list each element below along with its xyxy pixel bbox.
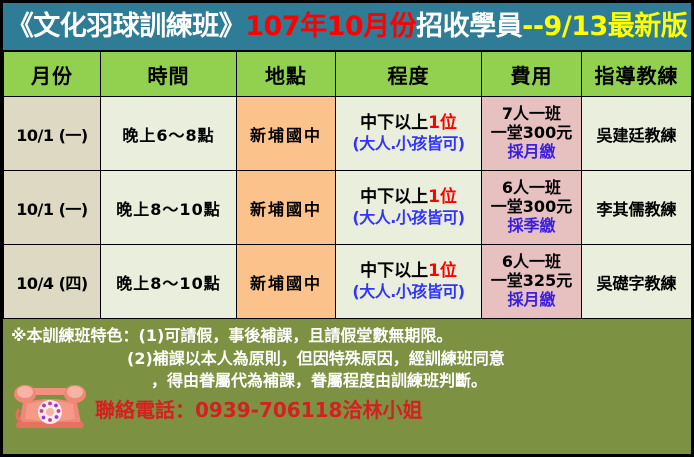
cell-place: 新埔國中	[237, 171, 336, 245]
level-note: (大人.小孩皆可)	[336, 208, 481, 228]
column-header-month: 月份	[4, 52, 101, 97]
level-slots: 1位	[428, 187, 457, 207]
cell-fee: 6人一班 一堂325元 採月繳	[482, 245, 582, 319]
level-note: (大人.小孩皆可)	[336, 282, 481, 302]
poster-root: 《文化羽球訓練班》107年10月份招收學員--9/13最新版 月份 時間 地點 …	[0, 0, 694, 457]
cell-fee: 7人一班 一堂300元 採月繳	[482, 97, 582, 171]
cell-time: 晚上6～8點	[101, 97, 237, 171]
level-slots: 1位	[428, 113, 457, 133]
table-row: 10/1 (一) 晚上8～10點 新埔國中 中下以上1位 (大人.小孩皆可) 6…	[4, 171, 692, 245]
cell-level: 中下以上1位 (大人.小孩皆可)	[336, 171, 482, 245]
table-header-row: 月份 時間 地點 程度 費用 指導教練	[4, 52, 692, 97]
title-banner: 《文化羽球訓練班》107年10月份招收學員--9/13最新版	[3, 3, 691, 51]
column-header-level: 程度	[336, 52, 482, 97]
level-main: 中下以上1位	[336, 187, 481, 208]
note-line-2: (2)補課以本人為原則，但因特殊原因，經訓練班同意	[11, 348, 683, 371]
schedule-table: 月份 時間 地點 程度 費用 指導教練 10/1 (一) 晚上6～8點 新埔國中…	[3, 51, 692, 319]
contact-row: 聯絡電話：0939-706118洽林小姐	[11, 379, 422, 431]
banner-title-part-recruit: 招收學員	[416, 11, 522, 42]
cell-time: 晚上8～10點	[101, 171, 237, 245]
fee-price: 一堂300元	[482, 198, 581, 217]
cell-coach: 吳建廷教練	[582, 97, 692, 171]
banner-title-part-version: --9/13最新版	[522, 11, 687, 42]
cell-time: 晚上8～10點	[101, 245, 237, 319]
table-row: 10/4 (四) 晚上8～10點 新埔國中 中下以上1位 (大人.小孩皆可) 6…	[4, 245, 692, 319]
banner-title: 《文化羽球訓練班》107年10月份招收學員--9/13最新版	[7, 13, 688, 40]
column-header-place: 地點	[237, 52, 336, 97]
level-main-text: 中下以上	[360, 113, 428, 133]
level-slots: 1位	[428, 261, 457, 281]
contact-phone-text: 聯絡電話：0939-706118洽林小姐	[89, 394, 422, 431]
fee-price: 一堂300元	[482, 124, 581, 143]
fee-class-size: 7人一班	[482, 105, 581, 124]
fee-payment-terms: 採月繳	[482, 143, 581, 162]
level-main-text: 中下以上	[360, 261, 428, 281]
level-main-text: 中下以上	[360, 187, 428, 207]
level-main: 中下以上1位	[336, 261, 481, 282]
banner-title-part-name: 《文化羽球訓練班》	[7, 11, 246, 42]
level-note: (大人.小孩皆可)	[336, 134, 481, 154]
cell-coach: 李其儒教練	[582, 171, 692, 245]
fee-class-size: 6人一班	[482, 179, 581, 198]
cell-month: 10/1 (一)	[4, 97, 101, 171]
fee-payment-terms: 採季繳	[482, 217, 581, 236]
cell-month: 10/1 (一)	[4, 171, 101, 245]
banner-title-part-period: 107年10月份	[245, 11, 416, 42]
cell-level: 中下以上1位 (大人.小孩皆可)	[336, 245, 482, 319]
note-line-1: ※本訓練班特色：(1)可請假，事後補課，且請假堂數無期限。	[11, 325, 683, 348]
cell-month: 10/4 (四)	[4, 245, 101, 319]
column-header-coach: 指導教練	[582, 52, 692, 97]
cell-place: 新埔國中	[237, 97, 336, 171]
cell-level: 中下以上1位 (大人.小孩皆可)	[336, 97, 482, 171]
column-header-fee: 費用	[482, 52, 582, 97]
footer-notes: ※本訓練班特色：(1)可請假，事後補課，且請假堂數無期限。 (2)補課以本人為原…	[3, 319, 691, 437]
fee-price: 一堂325元	[482, 272, 581, 291]
level-main: 中下以上1位	[336, 113, 481, 134]
cell-coach: 吳礎字教練	[582, 245, 692, 319]
fee-class-size: 6人一班	[482, 253, 581, 272]
cell-fee: 6人一班 一堂300元 採季繳	[482, 171, 582, 245]
column-header-time: 時間	[101, 52, 237, 97]
fee-payment-terms: 採月繳	[482, 291, 581, 310]
cell-place: 新埔國中	[237, 245, 336, 319]
table-row: 10/1 (一) 晚上6～8點 新埔國中 中下以上1位 (大人.小孩皆可) 7人…	[4, 97, 692, 171]
telephone-icon	[11, 379, 89, 431]
